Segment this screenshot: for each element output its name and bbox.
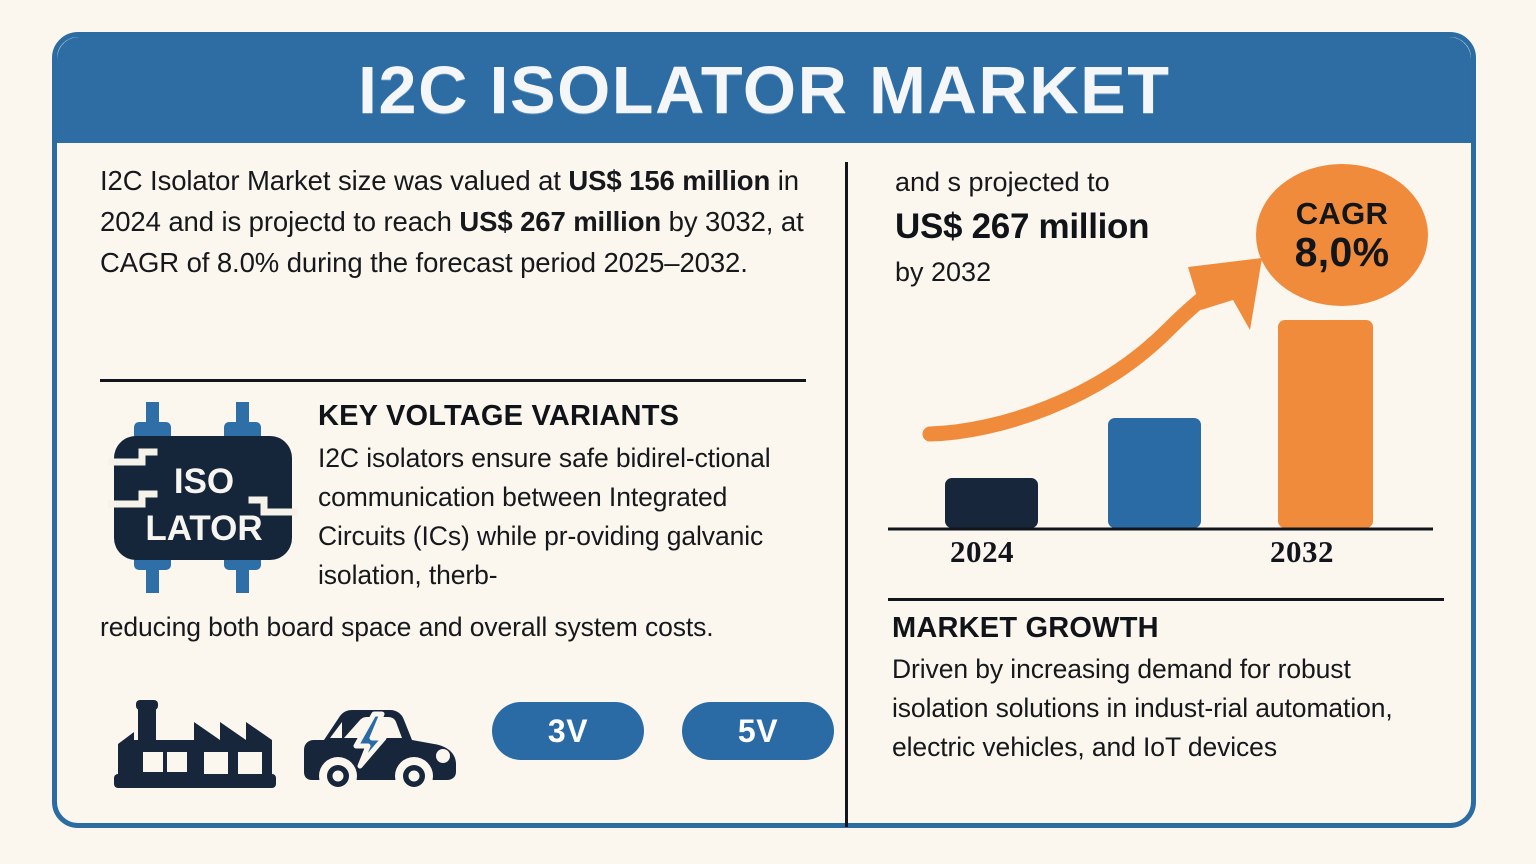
key-voltage-variants-body: I2C isolators ensure safe bidirel-ctiona… (318, 439, 818, 595)
chip-line-1: ISO (174, 462, 234, 501)
cagr-label: CAGR (1296, 198, 1388, 229)
bar-2024 (945, 478, 1038, 528)
voltage-pill-5v[interactable]: 5V (682, 702, 834, 760)
intro-value-2024: US$ 156 million (568, 165, 770, 196)
isolator-chip-icon: ISO LATOR (108, 400, 298, 595)
key-voltage-variants-title: KEY VOLTAGE VARIANTS (318, 400, 818, 433)
bar-mid (1108, 418, 1201, 528)
intro-part-1: I2C Isolator Market size was valued at (100, 165, 568, 196)
market-growth-chart (888, 250, 1444, 540)
electric-vehicle-icon (304, 710, 456, 794)
growth-arrow-icon (930, 258, 1262, 434)
left-section-divider (100, 379, 806, 382)
column-divider (845, 162, 848, 827)
key-voltage-variants-block: KEY VOLTAGE VARIANTS I2C isolators ensur… (318, 400, 818, 595)
left-column: I2C Isolator Market size was valued at U… (100, 160, 812, 283)
header-banner: I2C ISOLATOR MARKET (57, 37, 1471, 143)
tick-label-2024: 2024 (950, 534, 1014, 570)
factory-icon (114, 700, 276, 788)
market-growth-body: Driven by increasing demand for robust i… (892, 650, 1452, 767)
application-icons (112, 694, 472, 794)
market-growth-block: MARKET GROWTH Driven by increasing deman… (892, 612, 1452, 767)
chip-line-2: LATOR (145, 509, 262, 548)
voltage-pill-3v[interactable]: 3V (492, 702, 644, 760)
market-growth-title: MARKET GROWTH (892, 612, 1452, 645)
key-voltage-variants-tail: reducing both board space and overall sy… (100, 608, 816, 647)
right-section-divider (888, 598, 1444, 601)
bar-2032 (1278, 320, 1373, 528)
voltage-pill-row: 3V 5V (492, 702, 834, 760)
page-title: I2C ISOLATOR MARKET (358, 52, 1170, 129)
intro-value-2032: US$ 267 million (459, 206, 661, 237)
tick-label-2032: 2032 (1270, 534, 1334, 570)
infographic-canvas: I2C ISOLATOR MARKET I2C Isolator Market … (0, 0, 1536, 864)
intro-paragraph: I2C Isolator Market size was valued at U… (100, 160, 812, 283)
chart-tick-labels: 2024 2032 (888, 534, 1444, 580)
